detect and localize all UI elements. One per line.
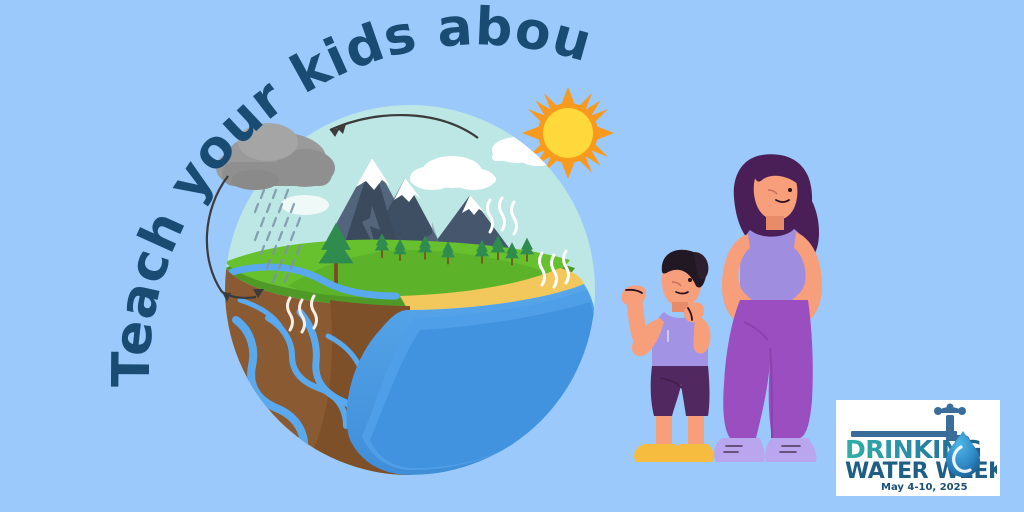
child-figure [621,250,714,462]
drinking-water-week-logo: DRINKING WATER WEEK May 4-10, 2025 [836,400,1000,496]
logo-date: May 4-10, 2025 [881,482,968,493]
poster-canvas: Teach your kids about water! DRINKING WA… [0,0,1024,512]
adult-woman-figure [714,154,822,462]
